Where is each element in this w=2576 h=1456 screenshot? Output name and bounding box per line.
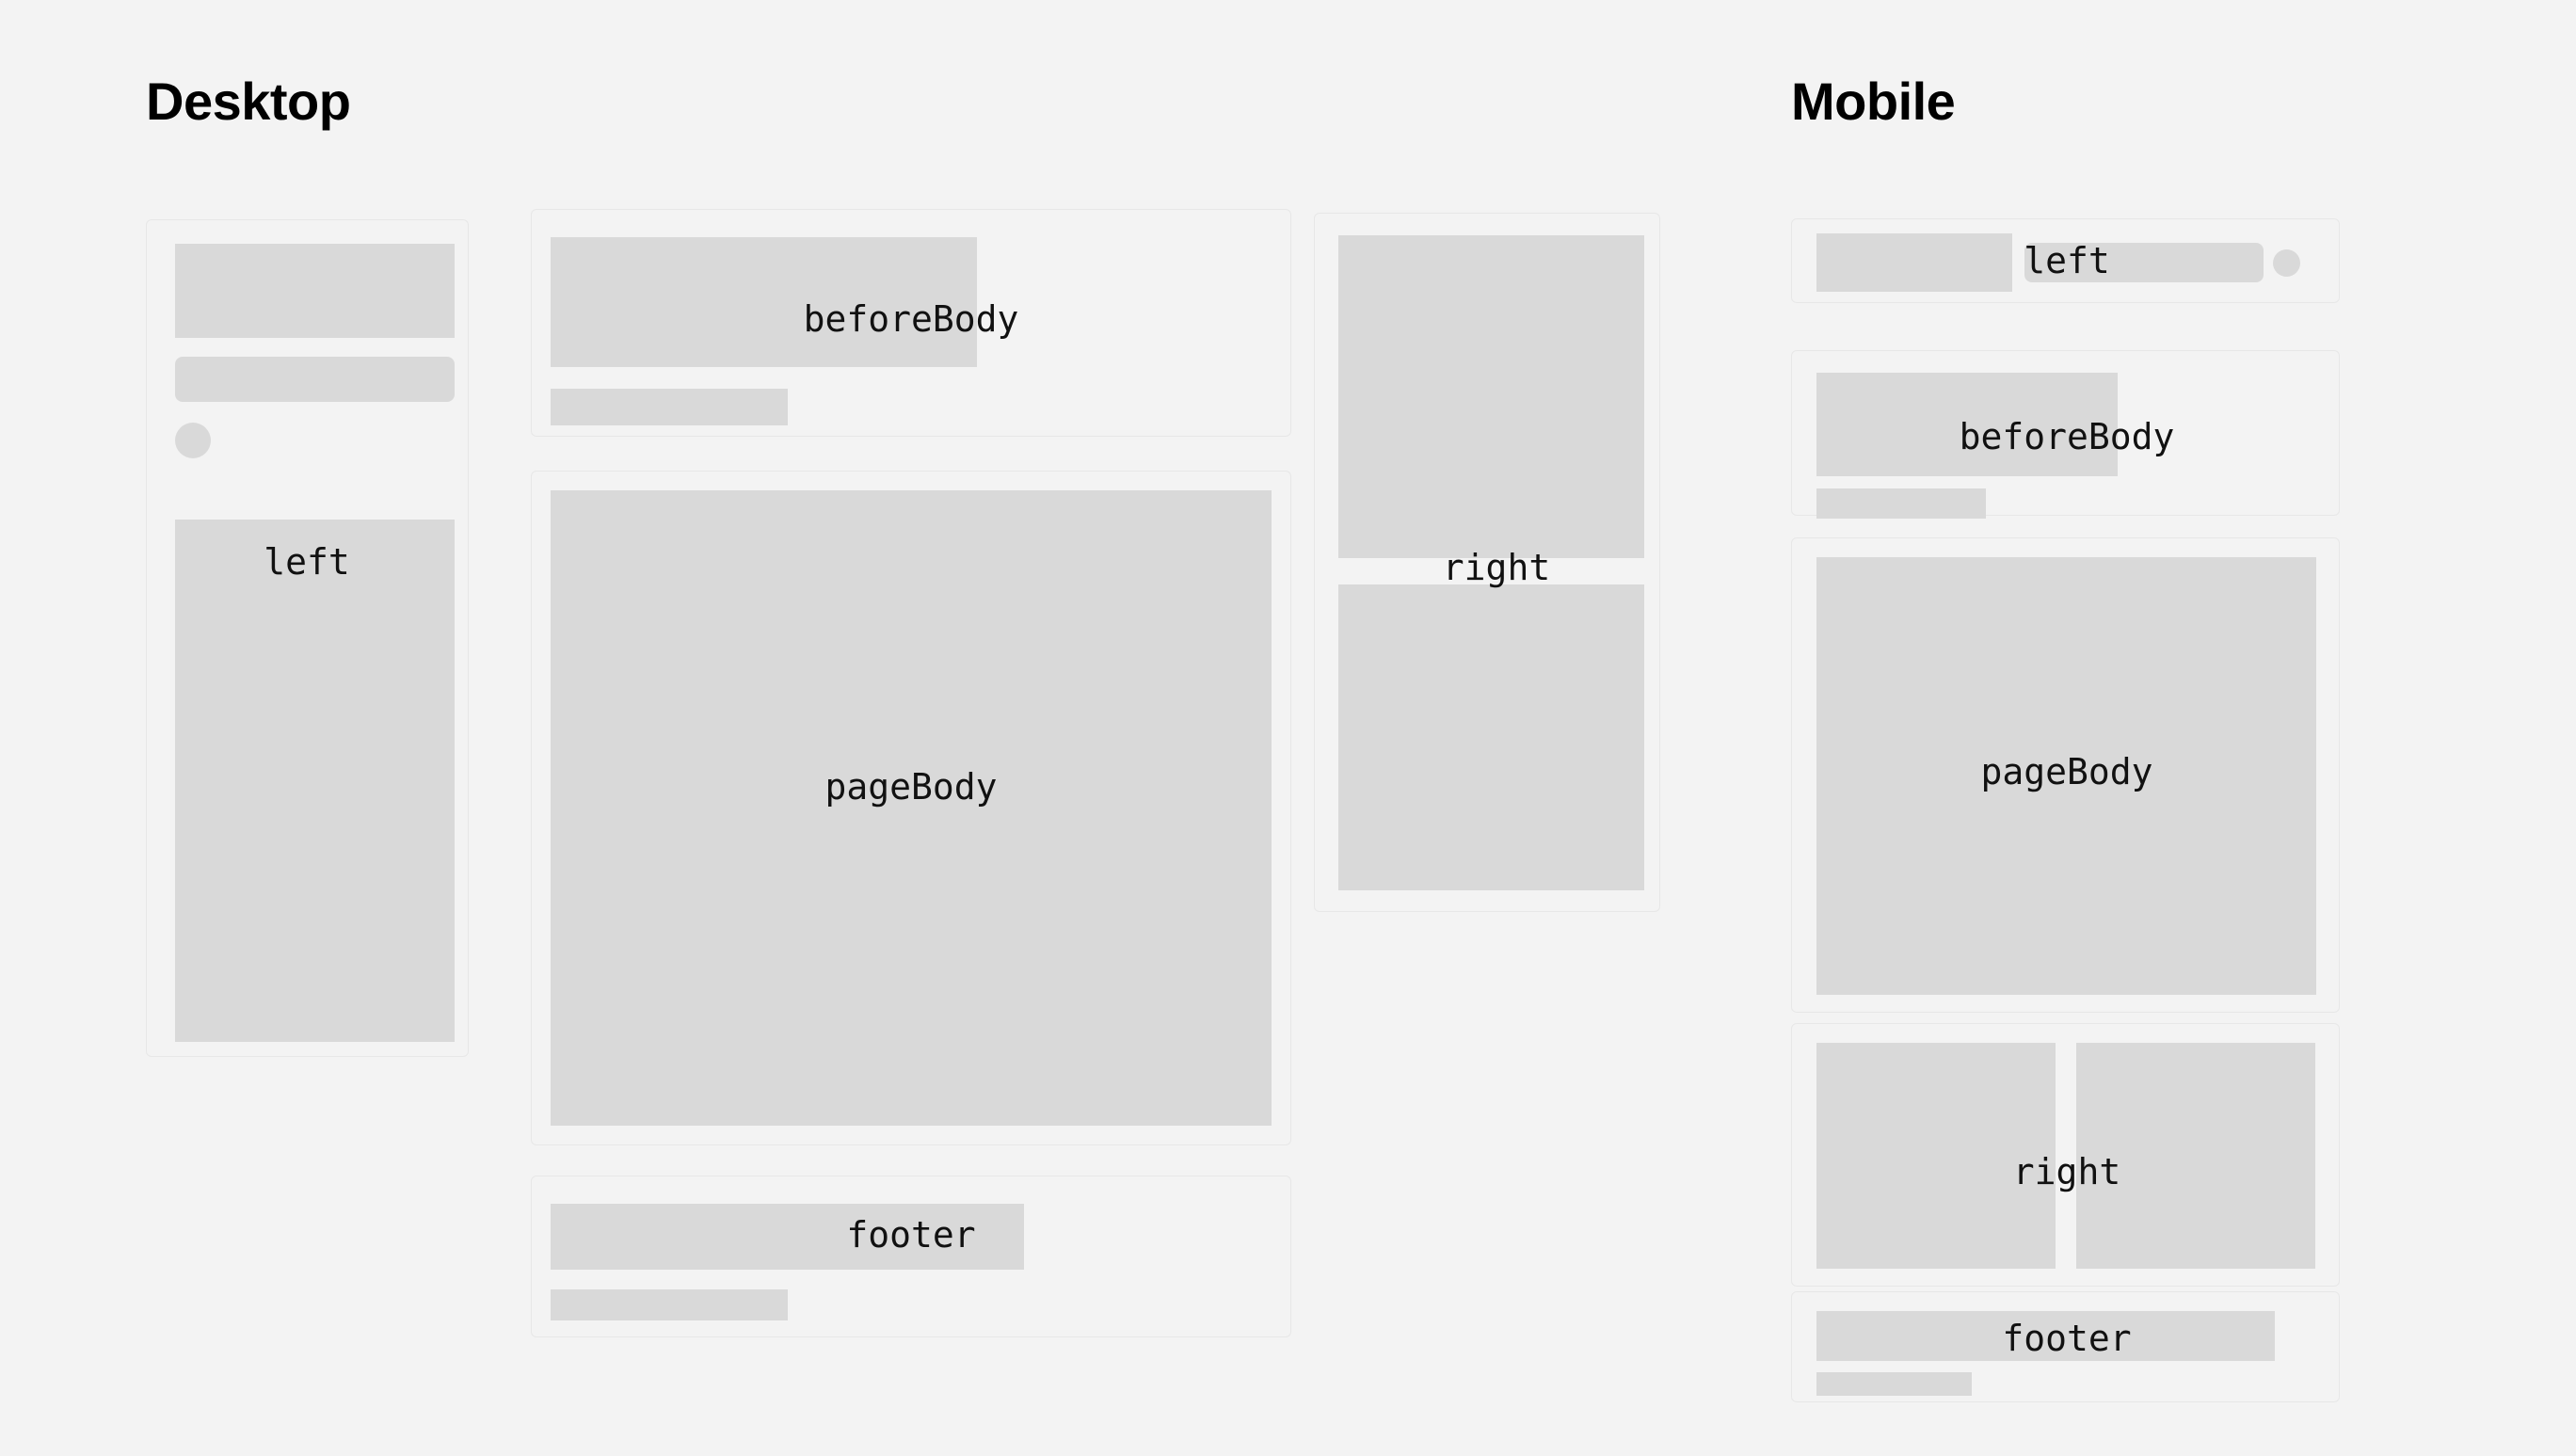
mobile-footer-block — [1816, 1311, 2275, 1361]
desktop-before-body-caption-bar — [551, 389, 788, 425]
mobile-left-rounded-bar — [2024, 243, 2264, 282]
desktop-footer-block — [551, 1204, 1024, 1270]
desktop-left-header-block — [175, 244, 455, 338]
desktop-before-body-panel[interactable] — [531, 209, 1291, 437]
desktop-right-panel[interactable] — [1314, 213, 1660, 912]
mobile-column-title: Mobile — [1791, 75, 1955, 128]
desktop-column-title: Desktop — [146, 75, 350, 128]
desktop-footer-panel[interactable] — [531, 1176, 1291, 1337]
desktop-left-panel[interactable] — [146, 219, 469, 1057]
mobile-before-body-caption-bar — [1816, 488, 1986, 519]
desktop-page-body-panel[interactable] — [531, 471, 1291, 1145]
mobile-right-block-left — [1816, 1043, 2056, 1269]
desktop-footer-caption-bar — [551, 1289, 788, 1320]
mobile-page-body-block — [1816, 557, 2316, 995]
mobile-before-body-panel[interactable] — [1791, 350, 2340, 516]
mobile-left-panel[interactable] — [1791, 218, 2340, 303]
mobile-before-body-block — [1816, 373, 2118, 476]
mobile-right-panel[interactable] — [1791, 1023, 2340, 1287]
desktop-left-rounded-bar — [175, 357, 455, 402]
desktop-before-body-block — [551, 237, 977, 367]
desktop-left-region-block — [175, 520, 455, 1042]
mobile-footer-caption-bar — [1816, 1372, 1972, 1396]
mobile-page-body-panel[interactable] — [1791, 537, 2340, 1013]
desktop-right-block-bottom — [1338, 584, 1644, 890]
desktop-right-block-top — [1338, 235, 1644, 558]
mobile-left-avatar-circle — [2273, 249, 2300, 277]
desktop-page-body-block — [551, 490, 1272, 1126]
mobile-right-block-right — [2076, 1043, 2315, 1269]
desktop-left-avatar-circle — [175, 423, 211, 458]
mobile-footer-panel[interactable] — [1791, 1291, 2340, 1402]
mobile-left-header-block — [1816, 233, 2012, 292]
layout-preview-page: { "page": { "background_color": "#f3f3f3… — [0, 0, 2576, 1456]
